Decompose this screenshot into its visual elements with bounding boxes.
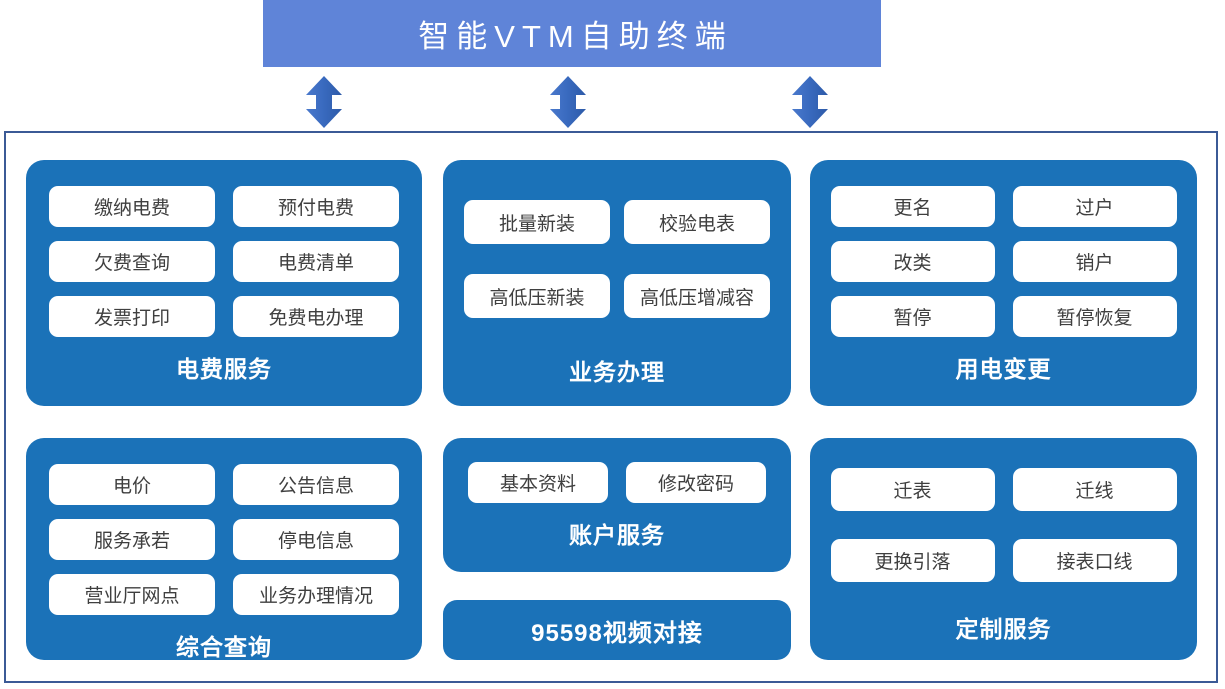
service-item[interactable]: 销户 — [1013, 241, 1177, 282]
service-item[interactable]: 发票打印 — [49, 296, 215, 337]
service-item[interactable]: 欠费查询 — [49, 241, 215, 282]
service-panel-change: 更名 过户 改类 销户 暂停 暂停恢复 用电变更 — [810, 160, 1197, 406]
service-item[interactable]: 业务办理情况 — [233, 574, 399, 615]
video-connect-label: 95598视频对接 — [531, 613, 703, 648]
panel-title: 账户服务 — [443, 516, 791, 550]
service-item[interactable]: 停电信息 — [233, 519, 399, 560]
panel-item-grid: 缴纳电费 预付电费 欠费查询 电费清单 发票打印 免费电办理 — [26, 186, 422, 337]
service-item[interactable]: 更换引落 — [831, 539, 995, 582]
service-panel-query: 电价 公告信息 服务承若 停电信息 营业厅网点 业务办理情况 综合查询 — [26, 438, 422, 660]
panel-item-grid: 批量新装 校验电表 高低压新装 高低压增减容 — [443, 200, 791, 318]
service-item[interactable]: 暂停 — [831, 296, 995, 337]
service-item[interactable]: 公告信息 — [233, 464, 399, 505]
service-panel-account: 基本资料 修改密码 账户服务 — [443, 438, 791, 572]
service-item[interactable]: 改类 — [831, 241, 995, 282]
panel-title: 电费服务 — [26, 350, 422, 384]
page-title: 智能VTM自助终端 — [411, 11, 732, 56]
panel-item-grid: 迁表 迁线 更换引落 接表口线 — [810, 468, 1197, 582]
panel-title: 综合查询 — [26, 628, 422, 662]
panel-title: 定制服务 — [810, 610, 1197, 644]
panel-title: 业务办理 — [443, 353, 791, 387]
service-item[interactable]: 迁线 — [1013, 468, 1177, 511]
service-item[interactable]: 过户 — [1013, 186, 1177, 227]
double-headed-vertical-arrow-icon — [302, 76, 346, 128]
service-item[interactable]: 批量新装 — [464, 200, 610, 244]
double-headed-vertical-arrow-icon — [788, 76, 832, 128]
double-headed-vertical-arrow-icon — [546, 76, 590, 128]
panel-item-grid: 电价 公告信息 服务承若 停电信息 营业厅网点 业务办理情况 — [26, 464, 422, 615]
panel-item-grid: 基本资料 修改密码 — [443, 462, 791, 503]
service-item[interactable]: 迁表 — [831, 468, 995, 511]
service-item[interactable]: 缴纳电费 — [49, 186, 215, 227]
video-connect-bar[interactable]: 95598视频对接 — [443, 600, 791, 660]
service-panel-custom: 迁表 迁线 更换引落 接表口线 定制服务 — [810, 438, 1197, 660]
panel-title: 用电变更 — [810, 350, 1197, 384]
header-banner: 智能VTM自助终端 — [263, 0, 881, 67]
service-item[interactable]: 更名 — [831, 186, 995, 227]
service-item[interactable]: 高低压增减容 — [624, 274, 770, 318]
service-item[interactable]: 免费电办理 — [233, 296, 399, 337]
service-panel-fee: 缴纳电费 预付电费 欠费查询 电费清单 发票打印 免费电办理 电费服务 — [26, 160, 422, 406]
service-item[interactable]: 营业厅网点 — [49, 574, 215, 615]
service-item[interactable]: 校验电表 — [624, 200, 770, 244]
service-item[interactable]: 修改密码 — [626, 462, 766, 503]
service-item[interactable]: 接表口线 — [1013, 539, 1177, 582]
service-item[interactable]: 电价 — [49, 464, 215, 505]
panel-item-grid: 更名 过户 改类 销户 暂停 暂停恢复 — [810, 186, 1197, 337]
service-item[interactable]: 预付电费 — [233, 186, 399, 227]
service-item[interactable]: 服务承若 — [49, 519, 215, 560]
service-panel-business: 批量新装 校验电表 高低压新装 高低压增减容 业务办理 — [443, 160, 791, 406]
service-item[interactable]: 基本资料 — [468, 462, 608, 503]
service-item[interactable]: 高低压新装 — [464, 274, 610, 318]
service-item[interactable]: 电费清单 — [233, 241, 399, 282]
service-item[interactable]: 暂停恢复 — [1013, 296, 1177, 337]
